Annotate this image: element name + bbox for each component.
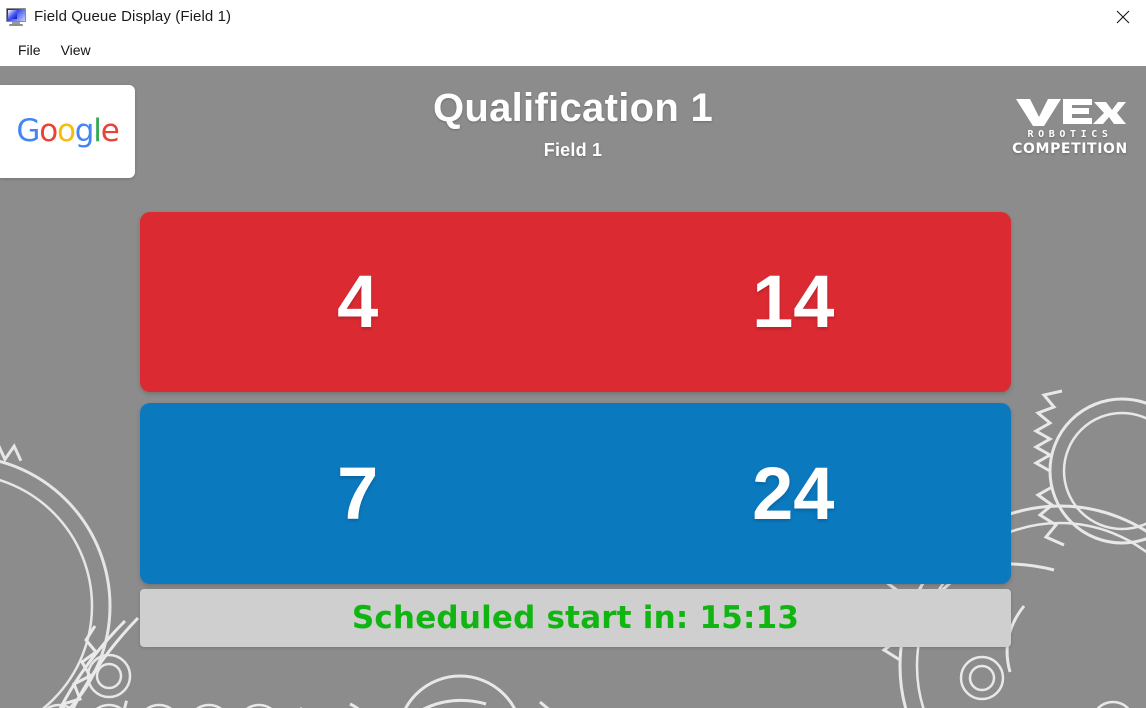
page-title: Qualification 1 bbox=[0, 86, 1146, 131]
menu-item-file[interactable]: File bbox=[8, 38, 51, 62]
scheduled-start-bar: Scheduled start in: 15:13 bbox=[140, 589, 1011, 647]
menu-bar: File View bbox=[0, 33, 1146, 66]
match-header: Qualification 1 Field 1 bbox=[0, 86, 1146, 161]
field-queue-display: Google Qualification 1 Field 1 ROBOTICS … bbox=[0, 66, 1146, 708]
vex-competition-text: COMPETITION bbox=[1008, 141, 1132, 157]
vex-robotics-competition-logo: ROBOTICS COMPETITION bbox=[1008, 93, 1132, 157]
monitor-icon bbox=[6, 8, 26, 26]
ring-decor-left bbox=[38, 655, 280, 708]
blue-alliance-panel[interactable]: 7 24 bbox=[140, 403, 1011, 584]
blue-team-1: 7 bbox=[140, 457, 576, 531]
vex-robotics-text: ROBOTICS bbox=[1008, 129, 1132, 140]
close-icon[interactable] bbox=[1100, 0, 1146, 33]
ring-decor-right bbox=[608, 702, 1134, 708]
red-team-2: 14 bbox=[576, 265, 1012, 339]
vex-wordmark-icon bbox=[1014, 93, 1126, 127]
menu-item-view[interactable]: View bbox=[51, 38, 101, 62]
blue-team-2: 24 bbox=[576, 457, 1012, 531]
field-subtitle: Field 1 bbox=[0, 140, 1146, 161]
window-title: Field Queue Display (Field 1) bbox=[34, 8, 231, 25]
red-team-1: 4 bbox=[140, 265, 576, 339]
red-alliance-panel[interactable]: 4 14 bbox=[140, 212, 1011, 392]
scheduled-start-text: Scheduled start in: 15:13 bbox=[352, 600, 799, 636]
window-titlebar: Field Queue Display (Field 1) bbox=[0, 0, 1146, 33]
